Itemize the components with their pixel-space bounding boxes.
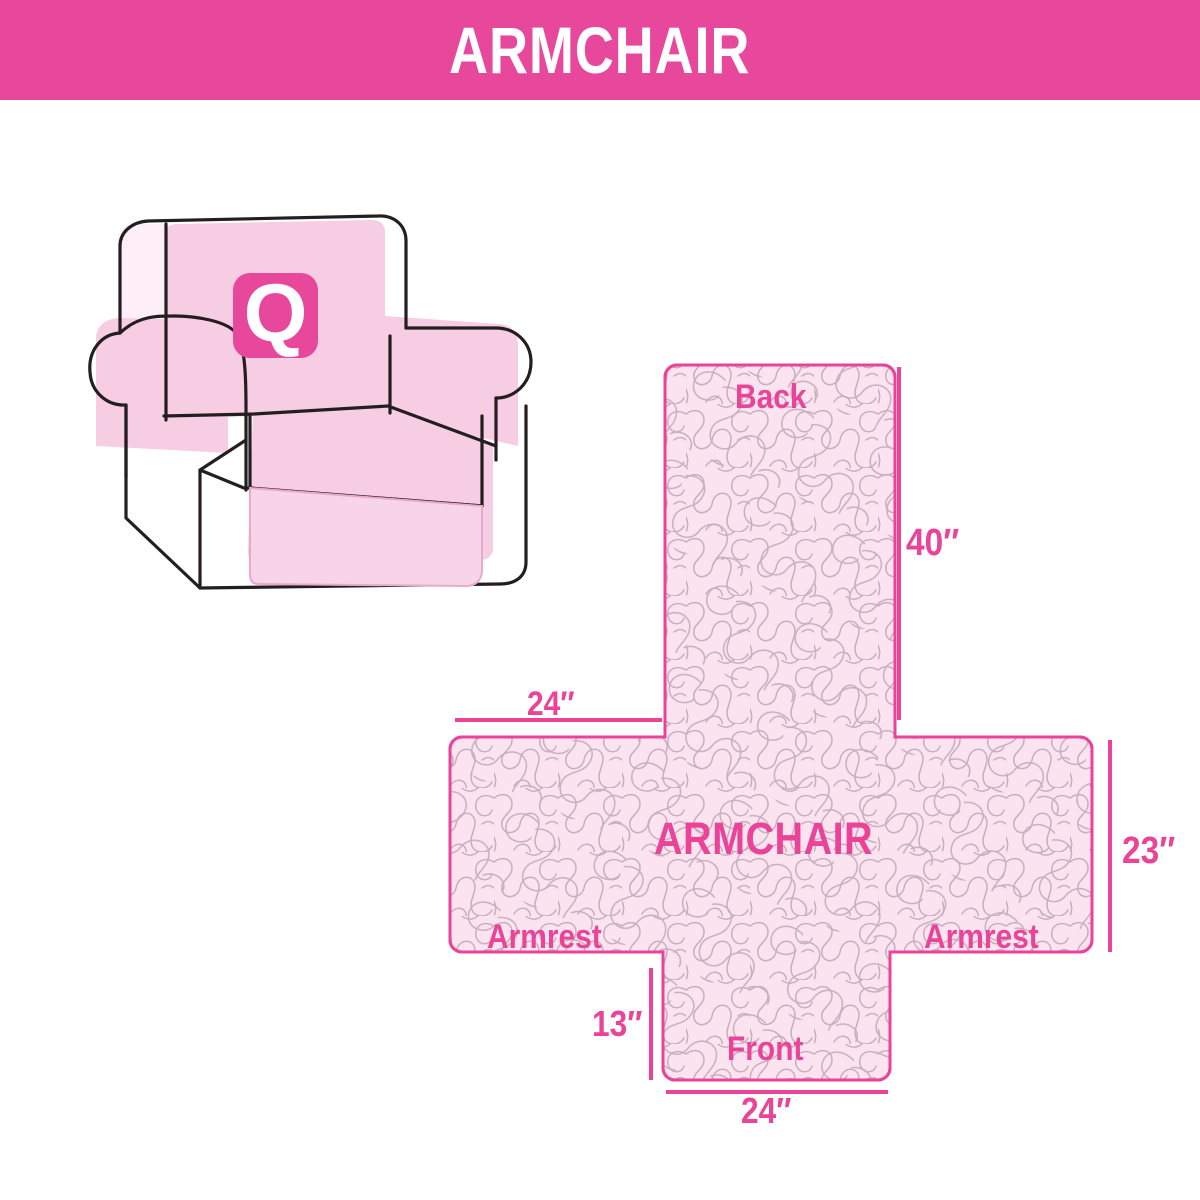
dimension-front-height: 13″ bbox=[592, 1003, 642, 1045]
label-center-armchair: ARMCHAIR bbox=[654, 813, 873, 865]
label-armrest-right: Armrest bbox=[924, 918, 1039, 957]
q-logo-badge: Q bbox=[233, 268, 318, 359]
page-title: ARMCHAIR bbox=[449, 17, 750, 83]
dimension-center-height: 23″ bbox=[1122, 830, 1175, 873]
header-banner: ARMCHAIR bbox=[0, 0, 1200, 100]
cover-layout-diagram bbox=[430, 340, 1190, 1130]
dimension-front-width: 24″ bbox=[741, 1090, 791, 1132]
chair-arm-left-fill bbox=[96, 318, 228, 453]
dimension-back-width: 24″ bbox=[527, 685, 575, 724]
page-root: ARMCHAIR bbox=[0, 0, 1200, 1200]
q-logo-letter: Q bbox=[244, 268, 308, 359]
dimension-back-height: 40″ bbox=[906, 522, 959, 565]
label-front: Front bbox=[727, 1030, 803, 1069]
label-back: Back bbox=[735, 378, 807, 417]
label-armrest-left: Armrest bbox=[487, 918, 602, 957]
